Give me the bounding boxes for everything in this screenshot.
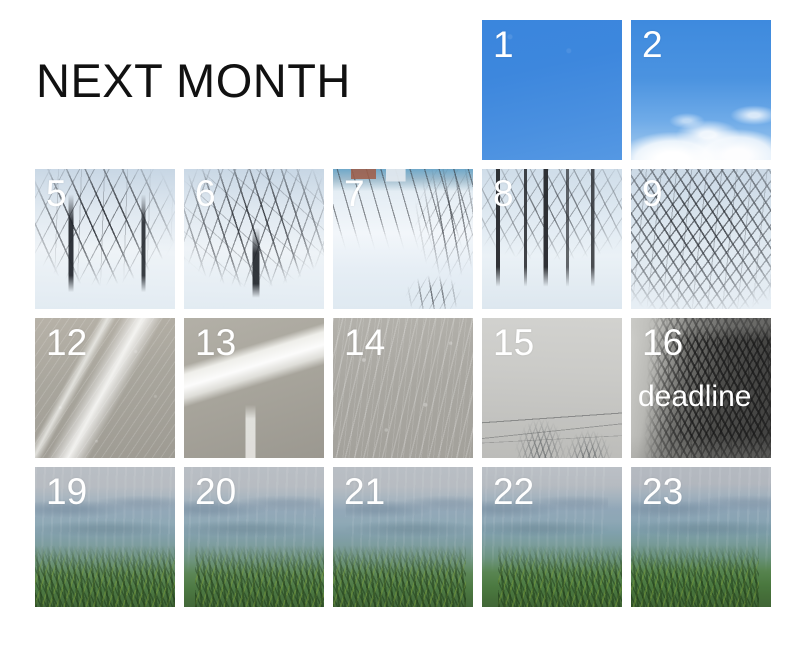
day-number: 22	[493, 469, 534, 515]
day-number: 14	[344, 320, 385, 366]
calendar-day-cell[interactable]: 1	[482, 20, 622, 160]
day-tile[interactable]: 14	[333, 318, 473, 458]
calendar-page: NEXT MONTH 1 2 5	[0, 0, 800, 650]
day-tile[interactable]: 7	[333, 169, 473, 309]
day-tile[interactable]: 13	[184, 318, 324, 458]
calendar-day-cell[interactable]: 6	[184, 169, 324, 309]
calendar-day-cell[interactable]: 5	[35, 169, 175, 309]
calendar-day-cell[interactable]: 8	[482, 169, 622, 309]
day-number: 6	[195, 171, 216, 217]
day-tile[interactable]: 2	[631, 20, 771, 160]
calendar-cell-empty	[35, 20, 175, 160]
calendar-day-cell[interactable]: 19	[35, 467, 175, 607]
day-tile[interactable]: 12	[35, 318, 175, 458]
day-number: 16	[642, 320, 683, 366]
calendar-day-cell[interactable]: 20	[184, 467, 324, 607]
calendar-grid: 1 2 5 6 7	[35, 20, 775, 607]
day-number: 21	[344, 469, 385, 515]
calendar-day-cell[interactable]: 9	[631, 169, 771, 309]
day-number: 20	[195, 469, 236, 515]
day-tile[interactable]: 20	[184, 467, 324, 607]
day-number: 23	[642, 469, 683, 515]
day-tile[interactable]: 5	[35, 169, 175, 309]
day-number: 8	[493, 171, 514, 217]
day-tile[interactable]: 19	[35, 467, 175, 607]
day-number: 19	[46, 469, 87, 515]
day-tile[interactable]: 15	[482, 318, 622, 458]
day-tile[interactable]: 23	[631, 467, 771, 607]
day-tile[interactable]: 1	[482, 20, 622, 160]
day-number: 9	[642, 171, 663, 217]
calendar-day-cell[interactable]: 14	[333, 318, 473, 458]
calendar-cell-empty	[333, 20, 473, 160]
day-tile[interactable]: 9	[631, 169, 771, 309]
calendar-day-cell[interactable]: 15	[482, 318, 622, 458]
calendar-day-cell[interactable]: 13	[184, 318, 324, 458]
day-number: 7	[344, 171, 365, 217]
calendar-day-cell[interactable]: 2	[631, 20, 771, 160]
calendar-cell-empty	[184, 20, 324, 160]
calendar-day-cell[interactable]: 22	[482, 467, 622, 607]
calendar-day-cell[interactable]: 12	[35, 318, 175, 458]
calendar-day-cell[interactable]: 7	[333, 169, 473, 309]
day-tile[interactable]: 16 deadline	[631, 318, 771, 458]
day-number: 5	[46, 171, 67, 217]
day-number: 1	[493, 22, 514, 68]
day-tile[interactable]: 21	[333, 467, 473, 607]
calendar-day-cell[interactable]: 21	[333, 467, 473, 607]
calendar-day-cell[interactable]: 16 deadline	[631, 318, 771, 458]
day-tile[interactable]: 22	[482, 467, 622, 607]
day-number: 12	[46, 320, 87, 366]
calendar-day-cell[interactable]: 23	[631, 467, 771, 607]
day-number: 13	[195, 320, 236, 366]
day-number: 2	[642, 22, 663, 68]
day-note-deadline: deadline	[638, 380, 751, 413]
day-number: 15	[493, 320, 534, 366]
day-tile[interactable]: 6	[184, 169, 324, 309]
day-tile[interactable]: 8	[482, 169, 622, 309]
